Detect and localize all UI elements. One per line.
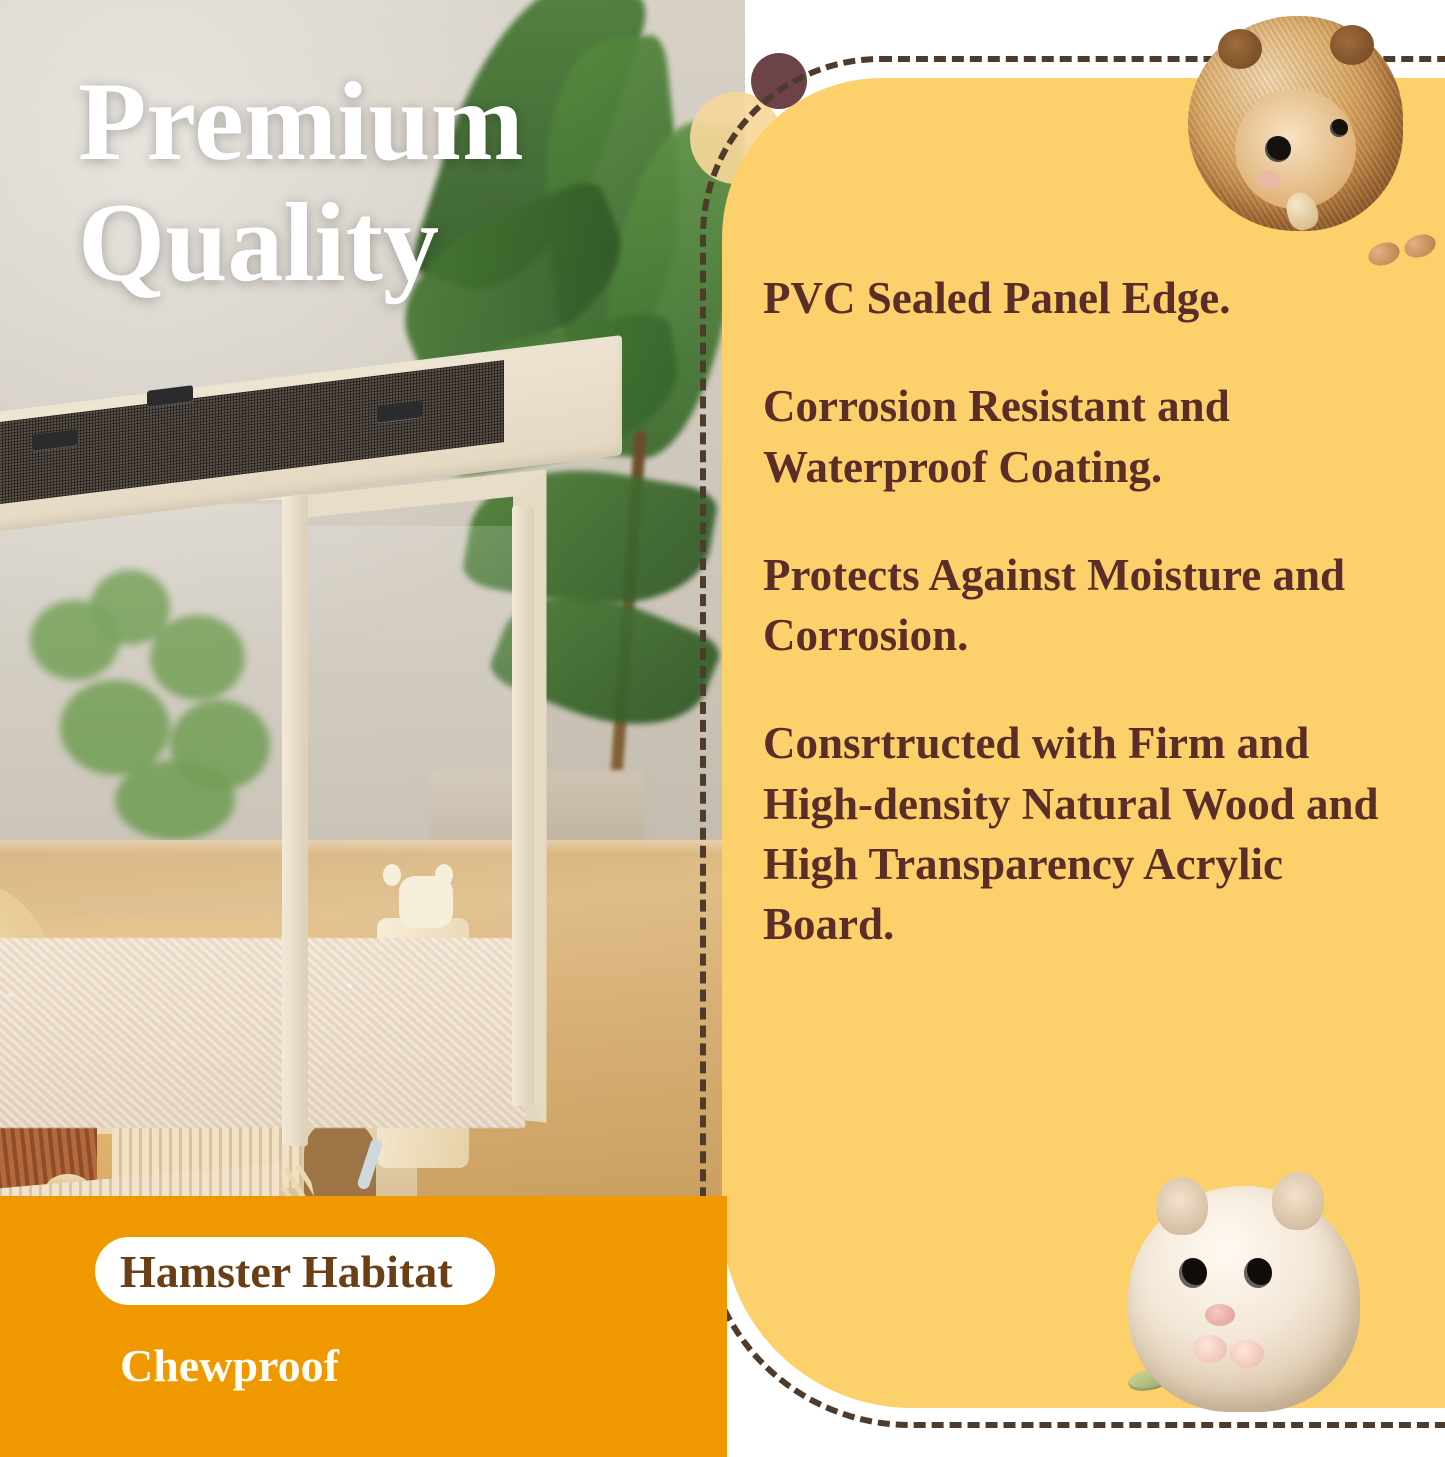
hamster-ear [1330,25,1374,65]
status-badge: Hamster Habitat [120,1246,680,1298]
feature-item: Corrosion Resistant and Waterproof Coati… [763,376,1423,497]
hamster-eye [1330,119,1348,137]
hamster-cage [0,378,622,1178]
page-title: Premium Quality [78,62,678,304]
product-infographic: Premium Quality PVC Sealed Panel Edge. C… [0,0,1445,1457]
hamster-nose [1257,171,1281,189]
cage-corner-post [512,506,534,1106]
feature-list: PVC Sealed Panel Edge. Corrosion Resista… [763,268,1423,955]
hamster-paw [1230,1340,1264,1368]
hamster-paw [1193,1335,1227,1363]
bottom-bar [0,1196,727,1457]
feature-item: Consrtructed with Firm and High-density … [763,713,1423,954]
cage-corner-post [282,474,308,1146]
hamster-icon [1188,16,1403,231]
badge-sub-label: Chewproof [120,1340,680,1392]
title-line-1: Premium [78,62,678,183]
hamster-ear [1218,29,1262,69]
hamster-nose [1205,1304,1235,1326]
hamster-ear [1272,1172,1324,1230]
feature-item: Protects Against Moisture and Corrosion. [763,545,1423,666]
hamster-ear [1156,1177,1208,1235]
title-line-2: Quality [78,183,678,304]
hamster-icon [1128,1186,1360,1412]
wood-shaving-bedding [0,938,525,1128]
hamster-face [1235,89,1355,209]
feature-item: PVC Sealed Panel Edge. [763,268,1423,328]
